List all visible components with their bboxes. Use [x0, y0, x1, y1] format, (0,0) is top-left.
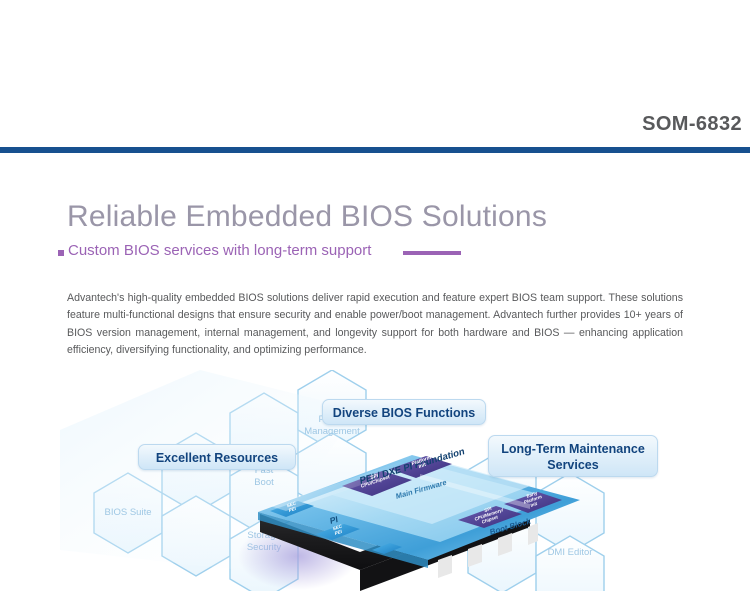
subtitle-bullet-icon	[58, 250, 64, 256]
model-number: SOM-6832	[642, 113, 742, 136]
page-title: Reliable Embedded BIOS Solutions	[67, 200, 547, 234]
intro-paragraph: Advantech's high-quality embedded BIOS s…	[67, 290, 683, 360]
bios-solutions-diagram: Power Management Fast Boot BIOS Suite St…	[60, 370, 750, 591]
badge-diverse-bios-functions[interactable]: Diverse BIOS Functions	[322, 399, 486, 425]
badge-long-term-maintenance-services[interactable]: Long-Term Maintenance Services	[488, 435, 658, 477]
diagram-badges: Excellent Resources Diverse BIOS Functio…	[60, 370, 750, 591]
subtitle-row: Custom BIOS services with long-term supp…	[58, 242, 478, 264]
header-divider-rule	[0, 147, 750, 153]
page-subtitle: Custom BIOS services with long-term supp…	[68, 242, 371, 259]
page-header: SOM-6832	[0, 0, 750, 154]
subtitle-accent-rule	[403, 251, 461, 255]
badge-excellent-resources[interactable]: Excellent Resources	[138, 444, 296, 470]
